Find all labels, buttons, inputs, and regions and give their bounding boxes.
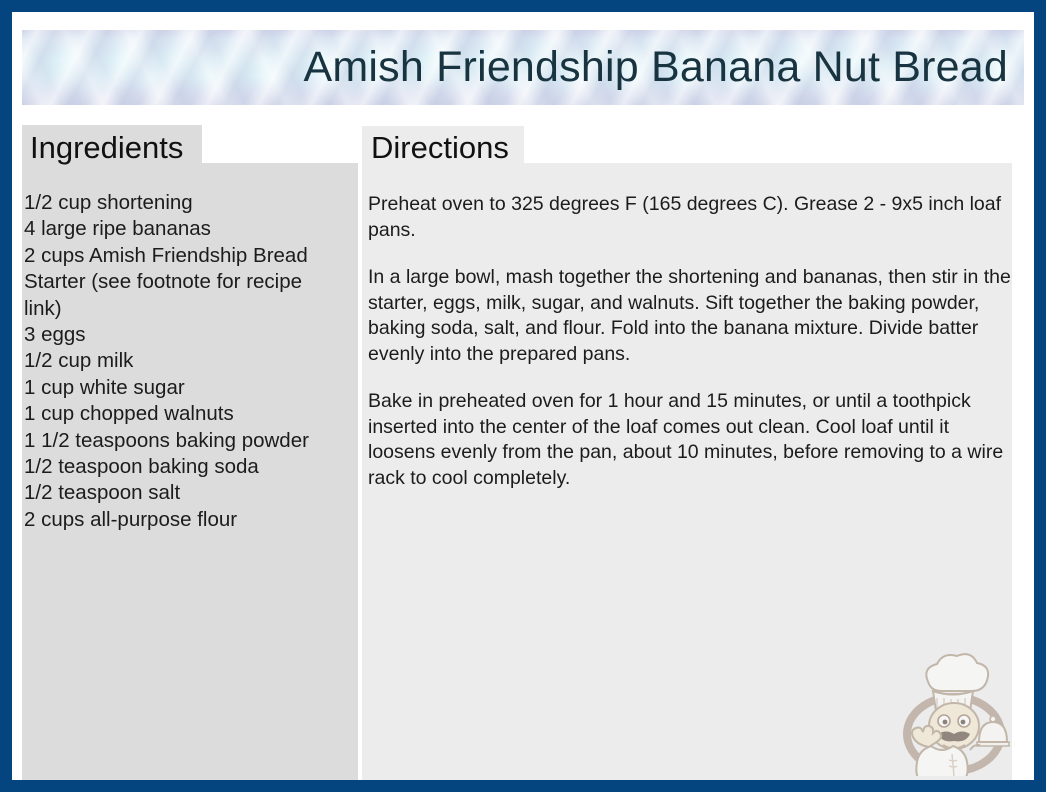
page-title: Amish Friendship Banana Nut Bread [303,43,1008,92]
ingredient-item: 1 cup chopped walnuts [24,401,342,427]
ingredient-item: 1/2 cup milk [24,348,342,374]
directions-heading: Directions [362,126,524,168]
ingredients-list: 1/2 cup shortening4 large ripe bananas2 … [24,190,342,533]
ingredients-heading: Ingredients [22,125,202,169]
border-right [1034,0,1046,792]
panel-divider [358,163,362,780]
ingredient-item: 3 eggs [24,322,342,348]
ingredient-item: 1/2 cup shortening [24,190,342,216]
ingredient-item: 1 1/2 teaspoons baking powder [24,428,342,454]
direction-step: Bake in preheated oven for 1 hour and 15… [368,389,1016,491]
ingredient-item: 1 cup white sugar [24,375,342,401]
ingredient-item: 1/2 teaspoon salt [24,480,342,506]
ingredient-item: 1/2 teaspoon baking soda [24,454,342,480]
directions-list: Preheat oven to 325 degrees F (165 degre… [368,192,1016,491]
border-top [0,0,1046,12]
recipe-slide: Ingredients Directions 1/2 cup shortenin… [0,0,1046,792]
border-bottom [0,780,1046,792]
direction-step: Preheat oven to 325 degrees F (165 degre… [368,192,1016,243]
border-left [0,0,12,792]
title-banner: Amish Friendship Banana Nut Bread [22,30,1024,105]
ingredient-item: 2 cups Amish Friendship Bread Starter (s… [24,243,342,322]
ingredients-heading-label: Ingredients [30,132,183,163]
ingredient-item: 2 cups all-purpose flour [24,507,342,533]
direction-step: In a large bowl, mash together the short… [368,265,1016,367]
chef-with-cloche-logo [893,648,1015,776]
ingredient-item: 4 large ripe bananas [24,216,342,242]
directions-heading-label: Directions [371,132,509,163]
